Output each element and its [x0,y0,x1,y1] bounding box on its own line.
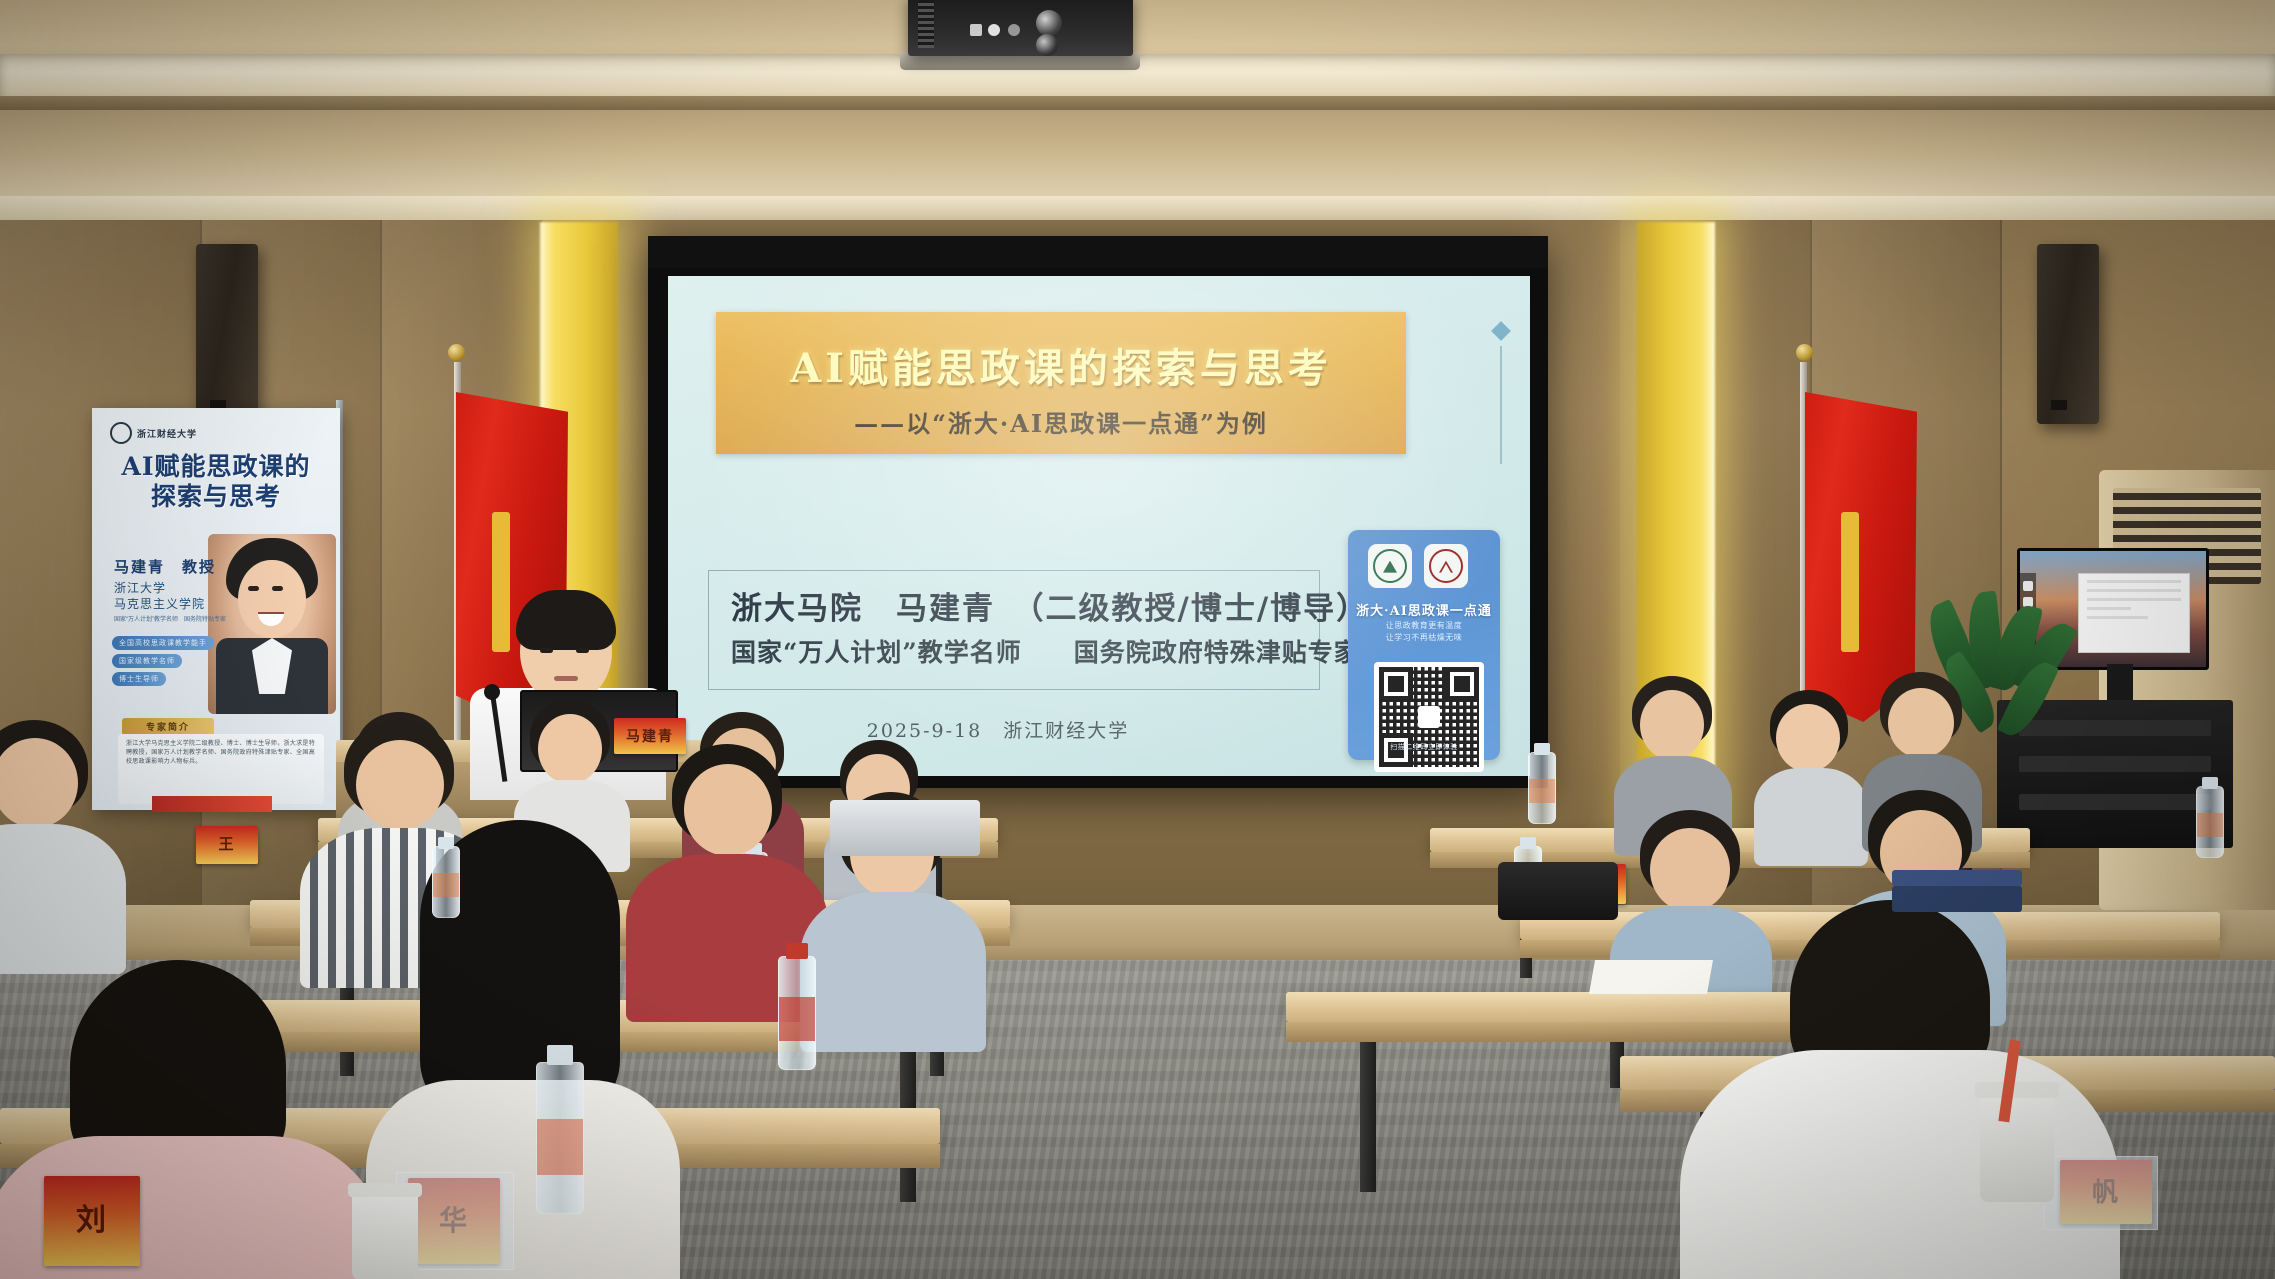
podium-name-placard: 马建青 [614,718,686,754]
slide-title-band: AI赋能思政课的探索与思考 ——以“浙大·AI思政课一点通”为例 [716,312,1406,454]
rollup-chip: 全国高校思政课教学能手 [112,636,214,650]
projector-vent [918,0,934,48]
potted-plant [1925,592,2095,772]
monitor-stand [2107,664,2133,702]
rollup-chip: 国家级教学名师 [112,654,182,668]
wall-speaker-left-icon [196,244,258,424]
ceiling-lip [0,96,2275,110]
presenter-info-box: 浙大马院 马建青 （二级教授/博士/博导） 国家“万人计划”教学名师 国务院政府… [708,570,1320,690]
presenter-credentials-line: 国家“万人计划”教学名师 国务院政府特殊津贴专家 [731,633,1360,669]
notebook [1892,886,2022,912]
university-seal-icon [110,422,132,444]
rollup-university-logo: 浙江财经大学 [110,422,197,444]
laptop-bag [1498,862,1618,920]
presenter-head [520,600,612,704]
slide-diamond-decor-icon [1491,321,1511,341]
projector-button [970,24,982,36]
water-bottle [432,846,460,918]
projector-lens [1036,10,1062,36]
qr-promo-card: 浙大·AI思政课一点通 让思政教育更有温度 让学习不再枯燥无味 扫描二维码立即体… [1348,530,1500,760]
thermos-bottle [778,956,816,1070]
speaker-portrait [208,534,336,714]
projector-button [988,24,1000,36]
rollup-footer-bar [152,796,272,812]
flag-cloth-icon [1805,392,1917,722]
flag-finial-icon [1796,344,1813,361]
wall-speaker-right-icon [2037,244,2099,424]
presenter-name-line: 浙大马院 马建青 （二级教授/博士/博导） [731,583,1369,628]
rollup-chip: 博士生导师 [112,672,166,686]
screen-top-casing [648,236,1548,268]
qr-card-subtitle-2: 让学习不再枯燥无味 [1348,632,1500,643]
projector-lens-secondary [1036,34,1058,56]
qr-card-subtitle-1: 让思政教育更有温度 [1348,620,1500,631]
zhejiang-university-emblem-icon [1368,544,1412,588]
rollup-org-line1: 浙江大学 [114,580,205,596]
rollup-banner: 浙江财经大学 AI赋能思政课的 探索与思考 马建青 教授 浙江大学 马克思主义学… [92,408,340,810]
qr-card-logos [1368,544,1468,588]
rollup-org-line2: 马克思主义学院 [114,596,205,612]
qr-code [1374,662,1484,772]
ceiling-back-panel [0,110,2275,202]
paper-sheet [1589,960,1713,994]
projection-screen-surface: AI赋能思政课的探索与思考 ——以“浙大·AI思政课一点通”为例 浙大马院 马建… [668,276,1530,776]
slide-vertical-rule [1500,346,1502,464]
qr-card-caption: 扫描二维码立即体验 [1348,742,1500,752]
projector-button [1008,24,1020,36]
microphone-icon [484,684,500,700]
lecture-hall-photo: AI赋能思政课的探索与思考 ——以“浙大·AI思政课一点通”为例 浙大马院 马建… [0,0,2275,1279]
slide-subtitle: ——以“浙大·AI思政课一点通”为例 [716,404,1406,439]
name-placard: 刘 [44,1176,140,1266]
rollup-headline-line2: 探索与思考 [92,482,340,512]
table-row [1286,992,1806,1022]
taskbar-icon [2023,581,2033,591]
flag-finial-icon [448,344,465,361]
rollup-headline: AI赋能思政课的 探索与思考 [92,452,340,512]
rollup-speaker-name: 马建青 教授 [114,556,216,577]
podium-name-placard-label: 马建青 [614,718,686,754]
rollup-credential-chips: 全国高校思政课教学能手 国家级教学名师 博士生导师 [112,636,214,686]
qr-code-pattern-icon [1379,667,1479,767]
rollup-org-subtext: 国家“万人计划”教学名师 国务院特贴专家 [114,616,226,624]
table-edge [1286,1022,1806,1042]
rollup-bio-text: 浙江大学马克思主义学院二级教授、博士、博士生导师，浙大求是特聘教授，国家万人计划… [118,734,324,804]
qr-center-logo-icon [1418,706,1440,728]
water-bottle [2196,786,2224,858]
water-bottle [536,1062,584,1214]
name-placard-label: 王 [196,826,258,864]
qr-finder-icon [1445,667,1479,701]
name-placard-label: 刘 [44,1176,140,1266]
qr-finder-icon [1379,667,1413,701]
rack-unit [2019,794,2211,810]
placard-holder [2044,1156,2158,1230]
rollup-university-name: 浙江财经大学 [137,427,197,440]
coffee-cup [352,1192,418,1279]
table-leg [1360,1042,1376,1192]
name-placard: 王 [196,826,258,864]
slide-title: AI赋能思政课的探索与思考 [716,336,1406,394]
ceiling-projector-icon [908,0,1133,56]
marxism-school-emblem-icon [1424,544,1468,588]
rollup-headline-line1: AI赋能思政课的 [92,452,340,482]
audience-laptop [830,800,980,856]
qr-card-title: 浙大·AI思政课一点通 [1348,600,1500,619]
notebook [1892,870,2022,886]
water-bottle [1528,752,1556,824]
drink-cup [1980,1092,2054,1202]
rollup-speaker-org: 浙江大学 马克思主义学院 [114,580,205,612]
